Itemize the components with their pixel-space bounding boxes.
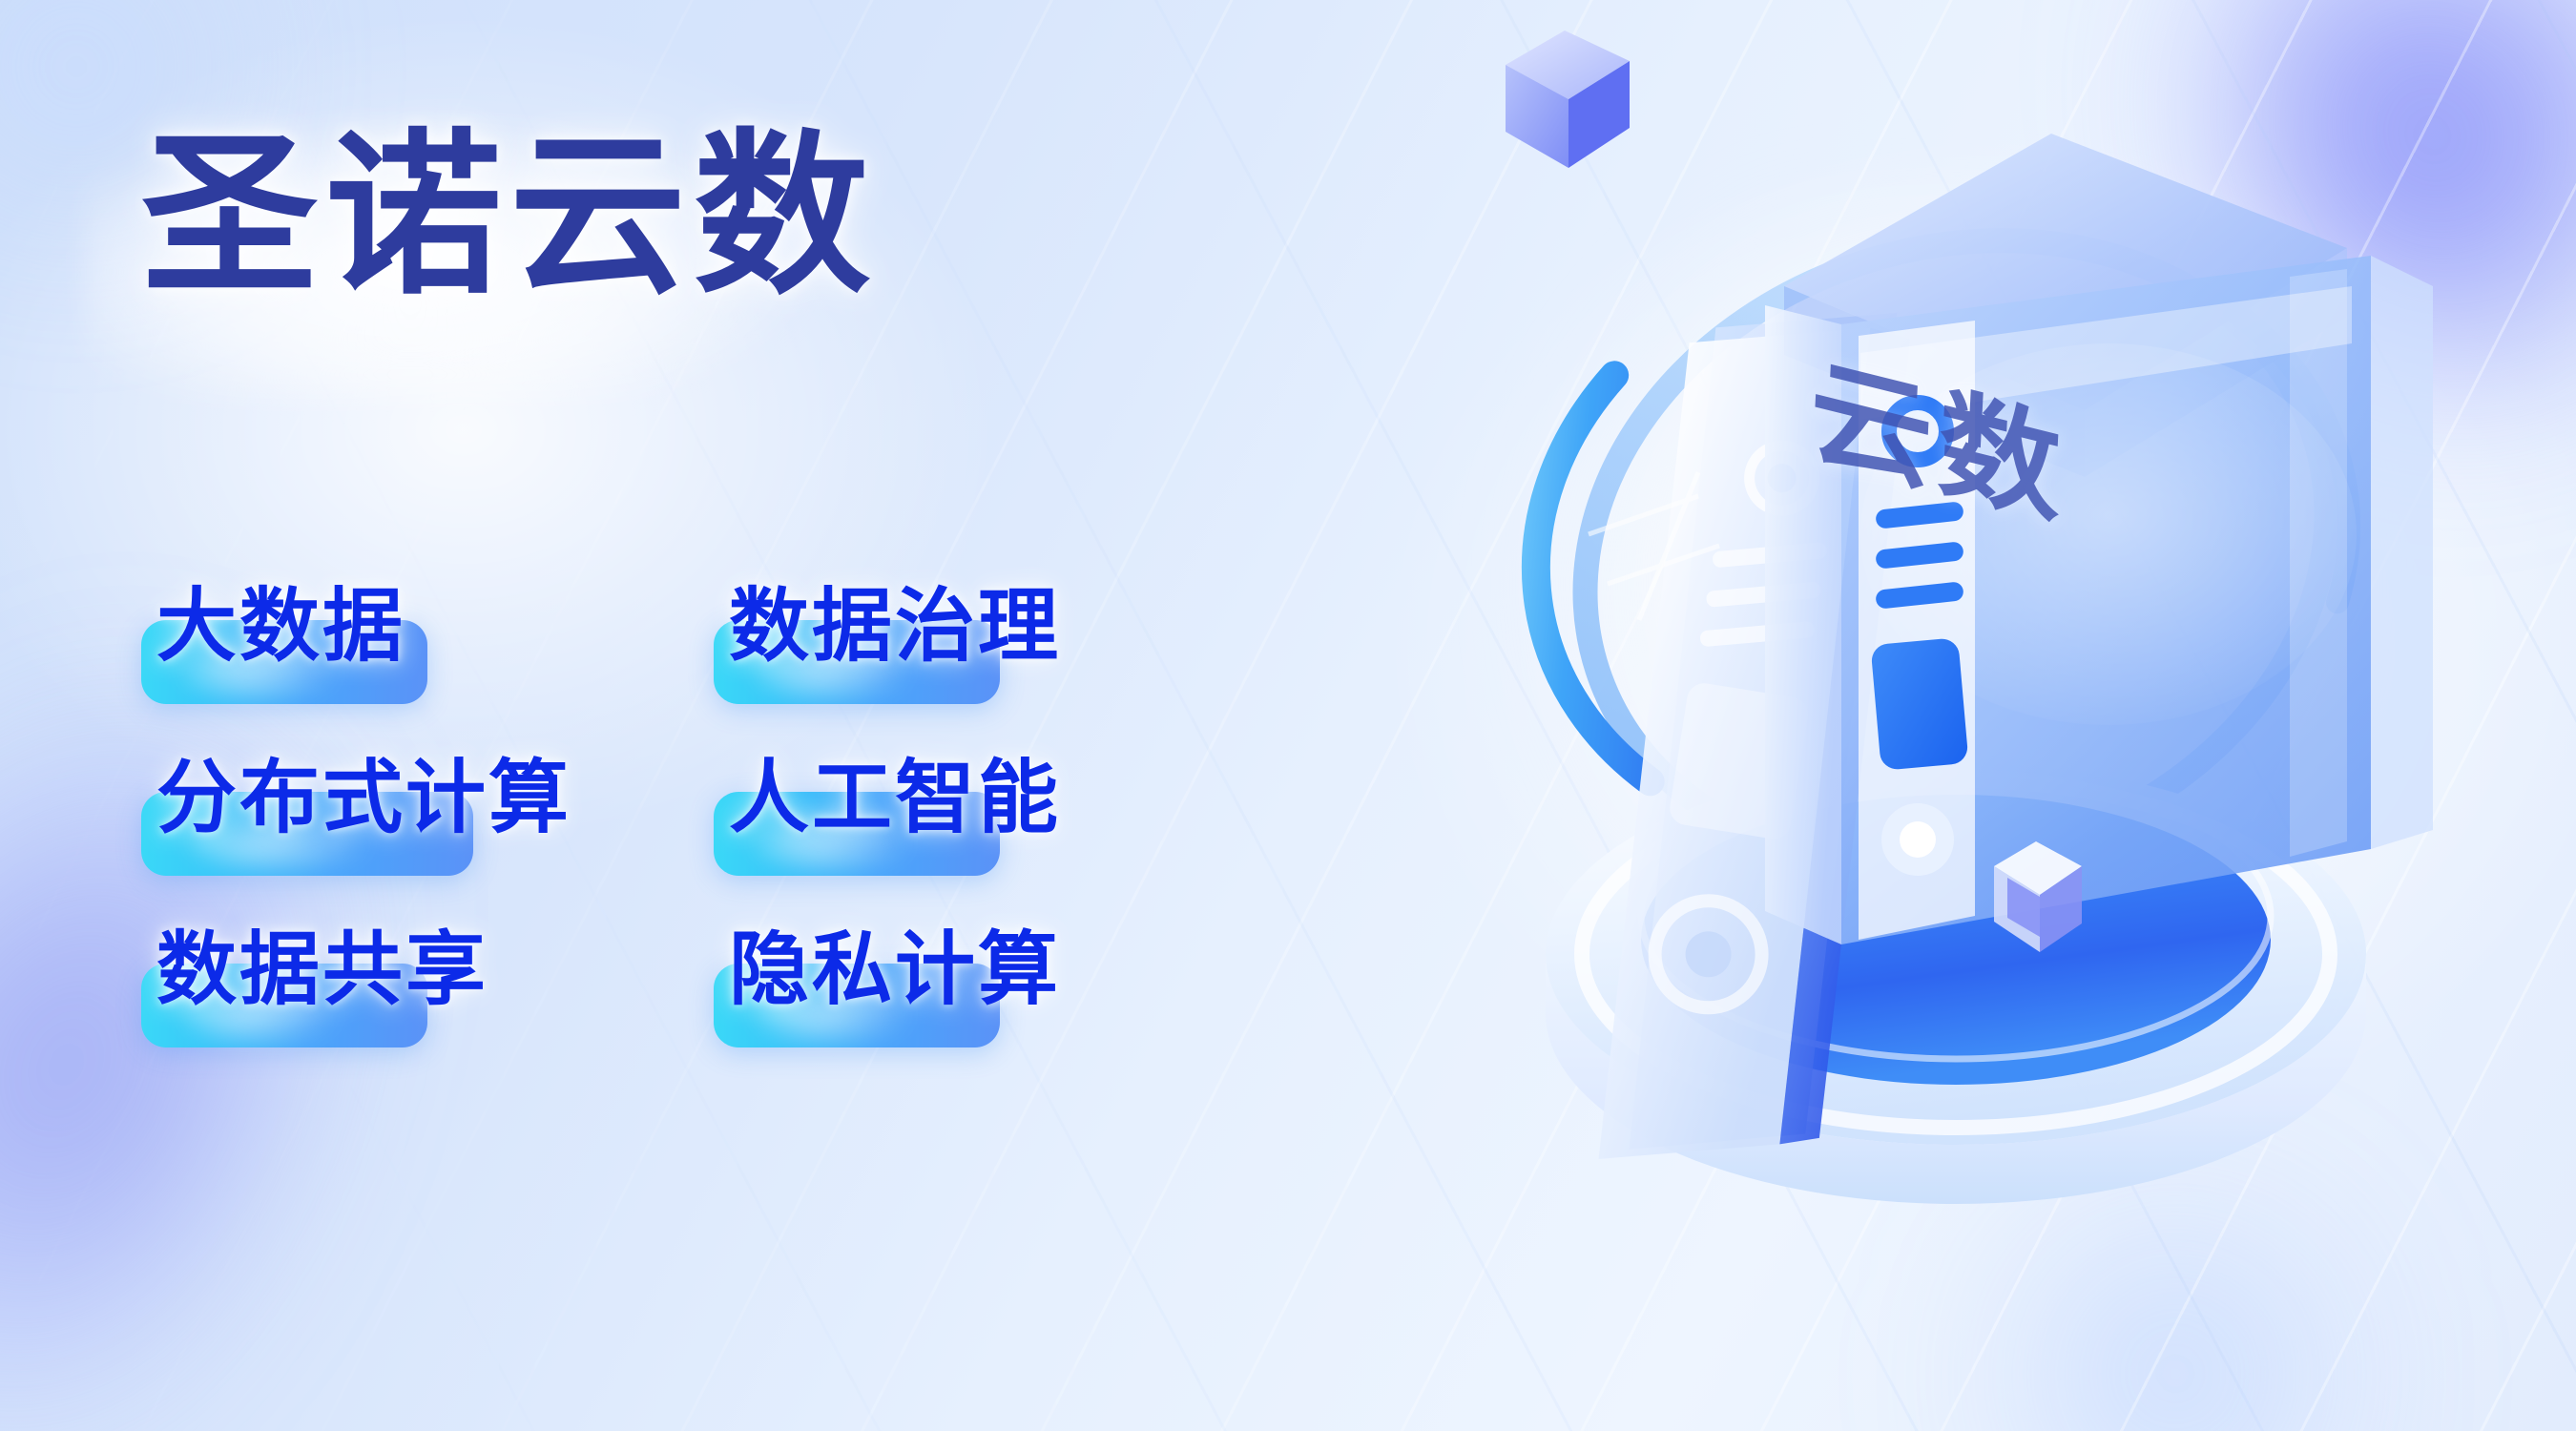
front-control-strip — [1859, 321, 1975, 940]
feature-tag-data-sharing[interactable]: 数据共享 — [141, 935, 714, 1047]
illustration-svg — [1383, 0, 2576, 1431]
feature-tag-grid: 大数据 数据治理 分布式计算 人工智能 数据共享 隐私计算 — [141, 591, 714, 1047]
title-wrap: 圣诺云数 — [141, 124, 1286, 309]
promo-banner: 云数 圣诺云数 大数据 数据治理 分布式计算 人工智能 数据共享 — [0, 0, 2576, 1431]
page-title: 圣诺云数 — [141, 124, 1286, 309]
tag-label: 数据治理 — [729, 586, 1061, 666]
tag-label: 大数据 — [156, 586, 405, 666]
feature-tag-big-data[interactable]: 大数据 — [141, 591, 714, 704]
tag-label: 人工智能 — [729, 757, 1061, 838]
hero-illustration: 云数 — [1383, 0, 2576, 1431]
tag-label: 分布式计算 — [156, 757, 571, 838]
tag-label: 数据共享 — [156, 929, 488, 1009]
copy-block: 圣诺云数 — [141, 124, 1286, 309]
tag-label: 隐私计算 — [729, 929, 1061, 1009]
feature-tag-distributed-computing[interactable]: 分布式计算 — [141, 763, 714, 876]
floating-cube-top — [1506, 31, 1630, 168]
glass-server-cabinet — [1765, 134, 2433, 944]
